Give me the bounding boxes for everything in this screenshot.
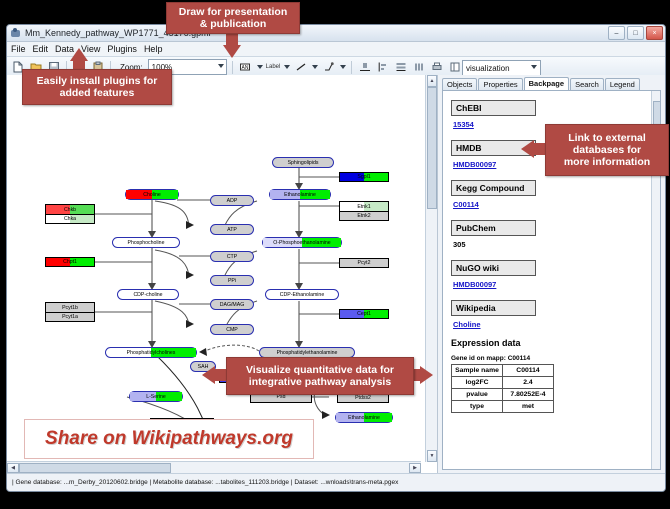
node-label: Phosphatidylethanolamine [277,350,338,356]
node-cdp-choline[interactable]: CDP-choline [117,289,179,300]
table-row: type met [452,401,554,413]
section-header-kegg: Kegg Compound [451,180,536,196]
node-label: CDP-choline [133,292,162,298]
node-ctp[interactable]: CTP [210,251,254,262]
node-pcyt1a[interactable]: Pcyt1a [45,312,95,322]
toolbar-separator-3 [232,61,233,74]
node-etnk2[interactable]: Etnk2 [339,211,389,221]
canvas-horizontal-scrollbar[interactable]: ◀ ▶ [7,461,421,473]
node-cmp[interactable]: CMP [210,324,254,335]
cell-value: met [503,401,554,413]
app-icon [10,28,21,39]
menu-item-file[interactable]: File [11,44,26,54]
align-top-icon[interactable] [357,60,372,75]
title-bar: Mm_Kennedy_pathway_WP1771_45176.gpml – □… [7,25,665,42]
node-atp[interactable]: ATP [210,224,254,235]
node-label: Sgpl1 [357,174,370,180]
callout-share: Share on Wikipathways.org [24,419,314,459]
node-sphingolipids[interactable]: Sphingolipids [272,157,334,168]
node-label: Cept1 [357,311,371,317]
node-chka[interactable]: Chka [45,214,95,224]
node-label: Phosphatidylcholines [127,350,176,356]
callout-plugins-arrow [70,48,88,61]
node-label: Pcyt1a [62,314,78,320]
tab-legend[interactable]: Legend [605,78,640,90]
node-cdp-ethanolamine[interactable]: CDP-Ethanolamine [265,289,339,300]
section-header-wikipedia: Wikipedia [451,300,536,316]
node-label: Ethanolamine [348,415,380,421]
tab-search[interactable]: Search [570,78,604,90]
datanode-dropdown-icon[interactable] [257,65,263,69]
node-adp[interactable]: ADP [210,195,254,206]
expression-data-table: Sample name C00114 log2FC 2.4 pvalue 7.8… [451,364,554,413]
cell-value: 2.4 [503,377,554,389]
menu-item-help[interactable]: Help [144,44,163,54]
node-ethanolamine-top[interactable]: Ethanolamine [269,189,331,200]
interaction-dropdown-icon[interactable] [340,65,346,69]
callout-plugins: Easily install plugins for added feature… [22,69,172,105]
callout-links: Link to external databases for more info… [545,124,669,176]
label-dropdown-icon[interactable] [284,65,290,69]
screenshot-root: Mm_Kennedy_pathway_WP1771_45176.gpml – □… [0,0,670,509]
node-ethanolamine-bottom[interactable]: Ethanolamine [335,412,393,423]
callout-links-arrow [521,140,534,158]
properties-icon[interactable] [447,60,462,75]
tab-backpage[interactable]: Backpage [524,77,569,90]
link-kegg[interactable]: C00114 [453,200,652,209]
callout-visualize-arrow-right [420,366,433,384]
node-label: Etnk2 [357,213,370,219]
menu-item-plugins[interactable]: Plugins [107,44,137,54]
node-label: ATP [227,227,237,233]
node-phosphatidylcholines[interactable]: Phosphatidylcholines [105,347,197,358]
align-left-icon[interactable] [375,60,390,75]
node-label: Chpt1 [63,259,77,265]
node-label: Pcyt2 [358,260,371,266]
visualization-combo[interactable]: visualization [462,60,541,76]
node-label: Sphingolipids [288,160,319,166]
node-l-serine-left[interactable]: L-Serine [129,391,183,402]
table-row: pvalue 7.80252E-4 [452,389,554,401]
section-header-chebi: ChEBI [451,100,536,116]
callout-draw: Draw for presentation & publication [166,2,300,34]
node-pcyt1b[interactable]: Pcyt1b [45,302,95,312]
callout-visualize-text: Visualize quantitative data for integrat… [246,364,394,388]
node-label: Etnk1 [357,204,370,210]
node-label: O-Phosphoethanolamine [273,240,330,246]
line-dropdown-icon[interactable] [312,65,318,69]
node-choline-top[interactable]: Choline [125,189,179,200]
node-label: CDP-Ethanolamine [280,292,324,298]
table-row: Sample name C00114 [452,365,554,377]
node-chpt1[interactable]: Chpt1 [45,257,95,267]
section-header-nugo: NuGO wiki [451,260,536,276]
maximize-button[interactable]: □ [627,26,644,40]
link-wikipedia[interactable]: Choline [453,320,652,329]
scroll-left-arrow[interactable]: ◀ [7,463,19,473]
node-label: Ethanolamine [284,192,316,198]
section-header-pubchem: PubChem [451,220,536,236]
table-row: log2FC 2.4 [452,377,554,389]
menu-bar: File Edit Data View Plugins Help [7,42,665,57]
node-etnk1[interactable]: Etnk1 [339,201,389,211]
scroll-up-arrow[interactable]: ▲ [427,75,437,87]
node-label: CMP [226,327,238,333]
visualization-value: visualization [466,64,510,73]
canvas-vertical-scrollbar[interactable]: ▲ ▼ [425,75,437,462]
callout-plugins-text: Easily install plugins for added feature… [37,75,158,99]
node-label: Pcyt1b [62,305,78,311]
node-label: DAG/MAG [220,302,245,308]
cell-value: 7.80252E-4 [503,389,554,401]
vertical-scroll-thumb[interactable] [427,87,437,209]
close-button[interactable]: × [646,26,663,40]
callout-visualize: Visualize quantitative data for integrat… [226,357,414,395]
tab-properties[interactable]: Properties [478,78,522,90]
node-label: CTP [227,254,237,260]
node-cept1[interactable]: Cept1 [339,309,389,319]
node-label: L-Serine [146,394,166,400]
cell-value: C00114 [503,365,554,377]
node-phosphocholine[interactable]: Phosphocholine [112,237,180,248]
value-pubchem: 305 [453,240,652,249]
chevron-down-icon [218,64,224,68]
pathway-canvas[interactable]: Sphingolipids Choline Ethanolamine ADP [7,75,437,473]
svg-text:AN: AN [242,65,249,71]
callout-draw-arrow [223,45,241,58]
status-bar: | Gene database: ...m_Derby_20120602.bri… [7,473,665,491]
pathway-editor-pane: Title: Availa Organi [7,75,438,473]
line-icon[interactable] [293,60,308,75]
cell-key: type [452,401,503,413]
expression-data-title: Expression data [451,338,652,348]
minimize-button[interactable]: – [608,26,625,40]
callout-share-text: Share on Wikipathways.org [45,428,293,450]
node-label: PPi [228,278,236,284]
horizontal-scroll-thumb[interactable] [19,463,171,473]
window-controls: – □ × [608,26,663,40]
status-text: | Gene database: ...m_Derby_20120602.bri… [12,479,398,486]
menu-item-edit[interactable]: Edit [33,44,49,54]
cell-key: Sample name [452,365,503,377]
label-button[interactable]: Label [266,64,281,70]
distribute-icon[interactable] [411,60,426,75]
callout-draw-text: Draw for presentation & publication [179,6,288,30]
node-label: Chka [64,216,76,222]
datanode-icon[interactable]: AN [238,60,253,75]
print-icon[interactable] [429,60,444,75]
node-ppi[interactable]: PPi [210,275,254,286]
toolbar-separator-4 [351,61,352,74]
gene-id-on-mapp: Gene id on mapp: C00114 [451,355,652,362]
chevron-down-icon [531,65,537,69]
node-label: Phosphocholine [128,240,165,246]
node-dagmag[interactable]: DAG/MAG [210,299,254,310]
node-label: Ptdss2 [355,395,371,401]
scroll-right-arrow[interactable]: ▶ [409,463,421,473]
node-chkb[interactable]: Chkb [45,204,95,214]
group-icon[interactable] [393,60,408,75]
callout-links-text: Link to external databases for more info… [564,132,650,168]
node-pcyt2[interactable]: Pcyt2 [339,258,389,268]
tab-objects[interactable]: Objects [442,78,477,90]
node-label: ADP [227,198,238,204]
callout-visualize-arrow [202,366,215,384]
node-label: Choline [143,192,161,198]
side-panel-tabs: Objects Properties Backpage Search Legen… [442,77,663,90]
cell-key: pvalue [452,389,503,401]
scroll-down-arrow[interactable]: ▼ [427,450,437,462]
node-sgpl1[interactable]: Sgpl1 [339,172,389,182]
node-label: Chkb [64,207,76,213]
interaction-icon[interactable] [321,60,336,75]
cell-key: log2FC [452,377,503,389]
link-nugo[interactable]: HMDB00097 [453,280,652,289]
node-o-phosphoethanolamine[interactable]: O-Phosphoethanolamine [262,237,342,248]
